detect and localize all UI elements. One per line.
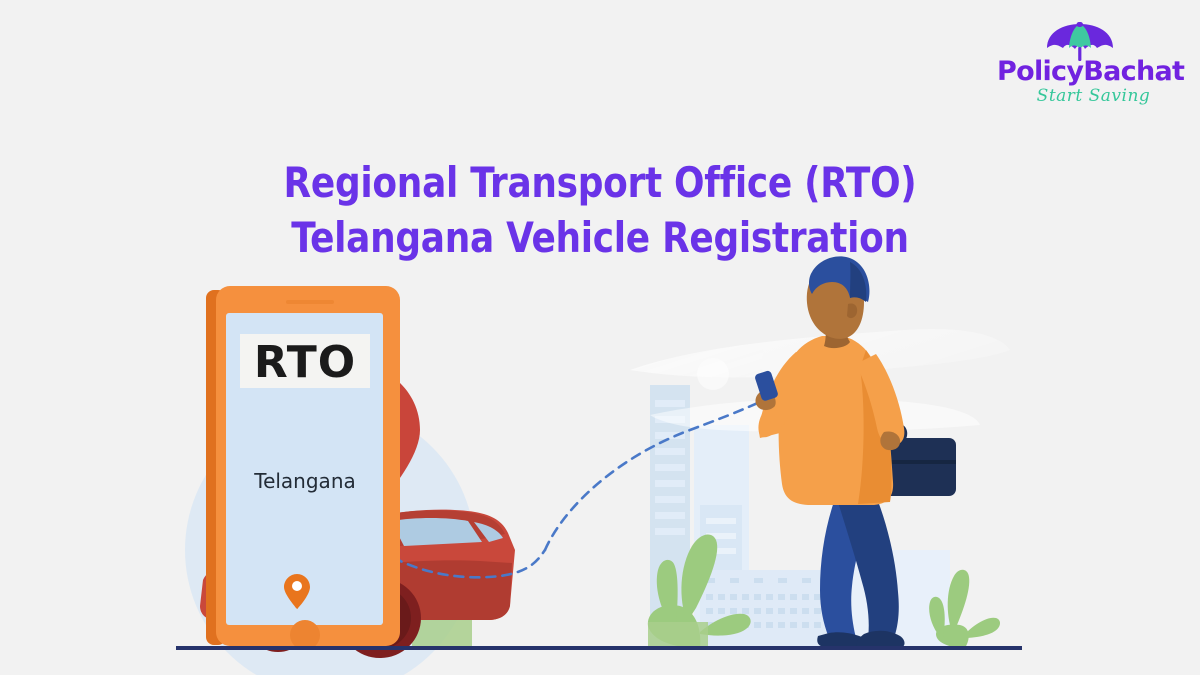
illustration-page: PolicyBachat Start Saving Regional Trans… bbox=[0, 0, 1200, 675]
page-title-line-1: Regional Transport Office (RTO) bbox=[30, 156, 1170, 211]
phone-home-button bbox=[290, 620, 320, 650]
car-window-main bbox=[391, 518, 482, 546]
brand-tagline: Start Saving bbox=[1011, 86, 1176, 106]
brand-name: PolicyBachat bbox=[997, 58, 1162, 85]
phone-screen-title: RTO bbox=[254, 337, 356, 388]
location-pin-telangana bbox=[532, 436, 558, 471]
ground-grass-patches bbox=[412, 620, 708, 648]
page-title: Regional Transport Office (RTO) Telangan… bbox=[30, 156, 1170, 265]
phone-speaker bbox=[286, 300, 334, 304]
phone-map-label: Telangana bbox=[253, 469, 356, 493]
brand-logo[interactable]: PolicyBachat Start Saving bbox=[997, 22, 1162, 108]
hero-illustration: RTO Telangana bbox=[0, 250, 1200, 675]
